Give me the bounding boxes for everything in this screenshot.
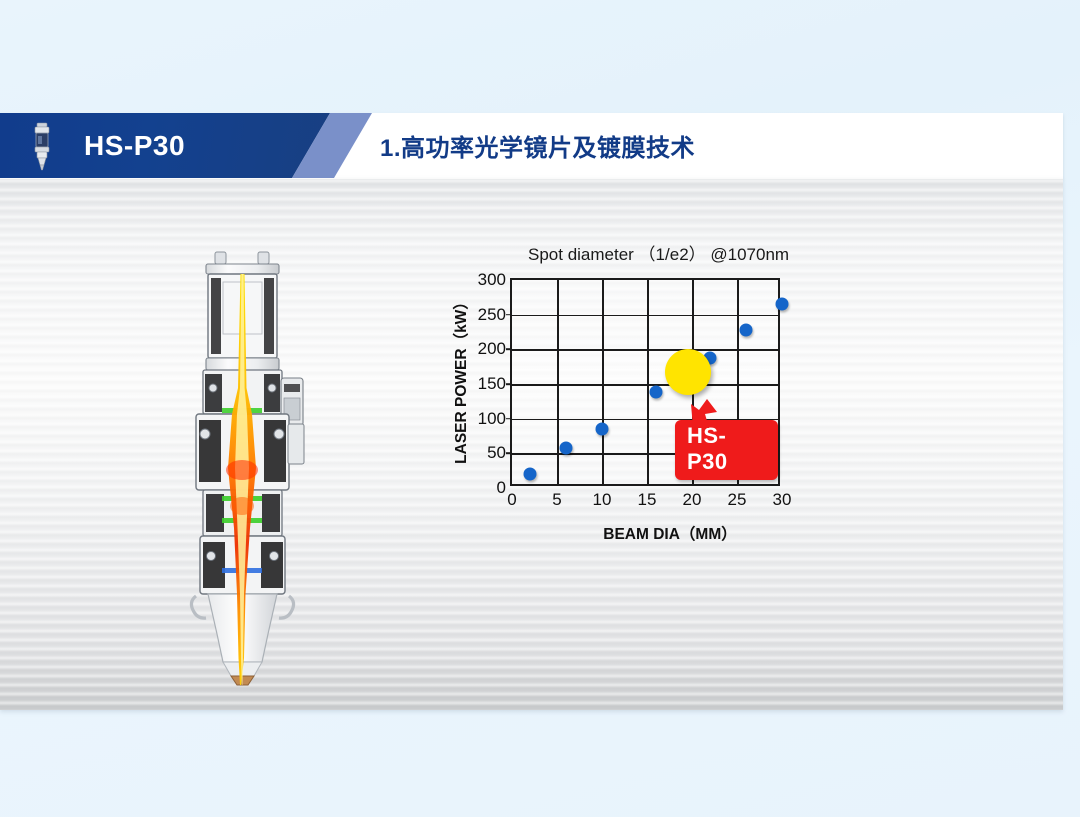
y-tick-label: 200 bbox=[478, 339, 506, 359]
chart-title: Spot diameter （1/e2） @1070nm bbox=[528, 240, 789, 265]
scatter-chart: Spot diameter （1/e2） @1070nm LASER POWER… bbox=[420, 240, 890, 560]
content-panel: Spot diameter （1/e2） @1070nm LASER POWER… bbox=[0, 178, 1063, 710]
chart-plot-area: 300 250 200 150 100 50 0 0 5 10 15 20 25… bbox=[510, 278, 780, 486]
gridline-v bbox=[557, 280, 559, 484]
y-tick-mark bbox=[506, 383, 512, 385]
y-tick-mark bbox=[506, 418, 512, 420]
chart-point bbox=[776, 297, 789, 310]
chart-point bbox=[650, 386, 663, 399]
y-tick-label: 250 bbox=[478, 305, 506, 325]
y-tick-mark bbox=[506, 349, 512, 351]
x-tick-label: 20 bbox=[683, 490, 702, 510]
x-tick-label: 0 bbox=[507, 490, 516, 510]
y-tick-label: 100 bbox=[478, 409, 506, 429]
product-title: HS-P30 bbox=[84, 113, 185, 178]
chart-point bbox=[560, 442, 573, 455]
gridline-v bbox=[602, 280, 604, 484]
y-tick-label: 300 bbox=[478, 270, 506, 290]
x-tick-label: 5 bbox=[552, 490, 561, 510]
chart-point bbox=[740, 323, 753, 336]
y-tick-mark bbox=[506, 453, 512, 455]
x-tick-label: 25 bbox=[728, 490, 747, 510]
chart-point bbox=[524, 468, 537, 481]
laser-cutting-head-icon bbox=[28, 121, 56, 171]
chart-x-axis-label: BEAM DIA（MM） bbox=[505, 522, 835, 544]
y-tick-mark bbox=[506, 314, 512, 316]
y-tick-label: 0 bbox=[497, 478, 506, 498]
x-tick-label: 30 bbox=[773, 490, 792, 510]
y-tick-label: 50 bbox=[487, 443, 506, 463]
gridline-v bbox=[647, 280, 649, 484]
x-tick-label: 10 bbox=[593, 490, 612, 510]
chart-point-highlight bbox=[665, 349, 711, 395]
callout-arrow-icon bbox=[687, 398, 721, 428]
callout-label: HS-P30 bbox=[675, 420, 778, 480]
section-title: 1.高功率光学镜片及镀膜技术 bbox=[380, 113, 695, 178]
hs-p30-callout: HS-P30 bbox=[675, 420, 778, 480]
chart-point bbox=[596, 423, 609, 436]
laser-cutting-head-cutaway bbox=[178, 238, 343, 688]
chart-y-axis-label: LASER POWER（kW） bbox=[449, 279, 471, 479]
x-tick-label: 15 bbox=[638, 490, 657, 510]
y-tick-label: 150 bbox=[478, 374, 506, 394]
page-header: HS-P30 1.高功率光学镜片及镀膜技术 bbox=[0, 113, 1063, 178]
